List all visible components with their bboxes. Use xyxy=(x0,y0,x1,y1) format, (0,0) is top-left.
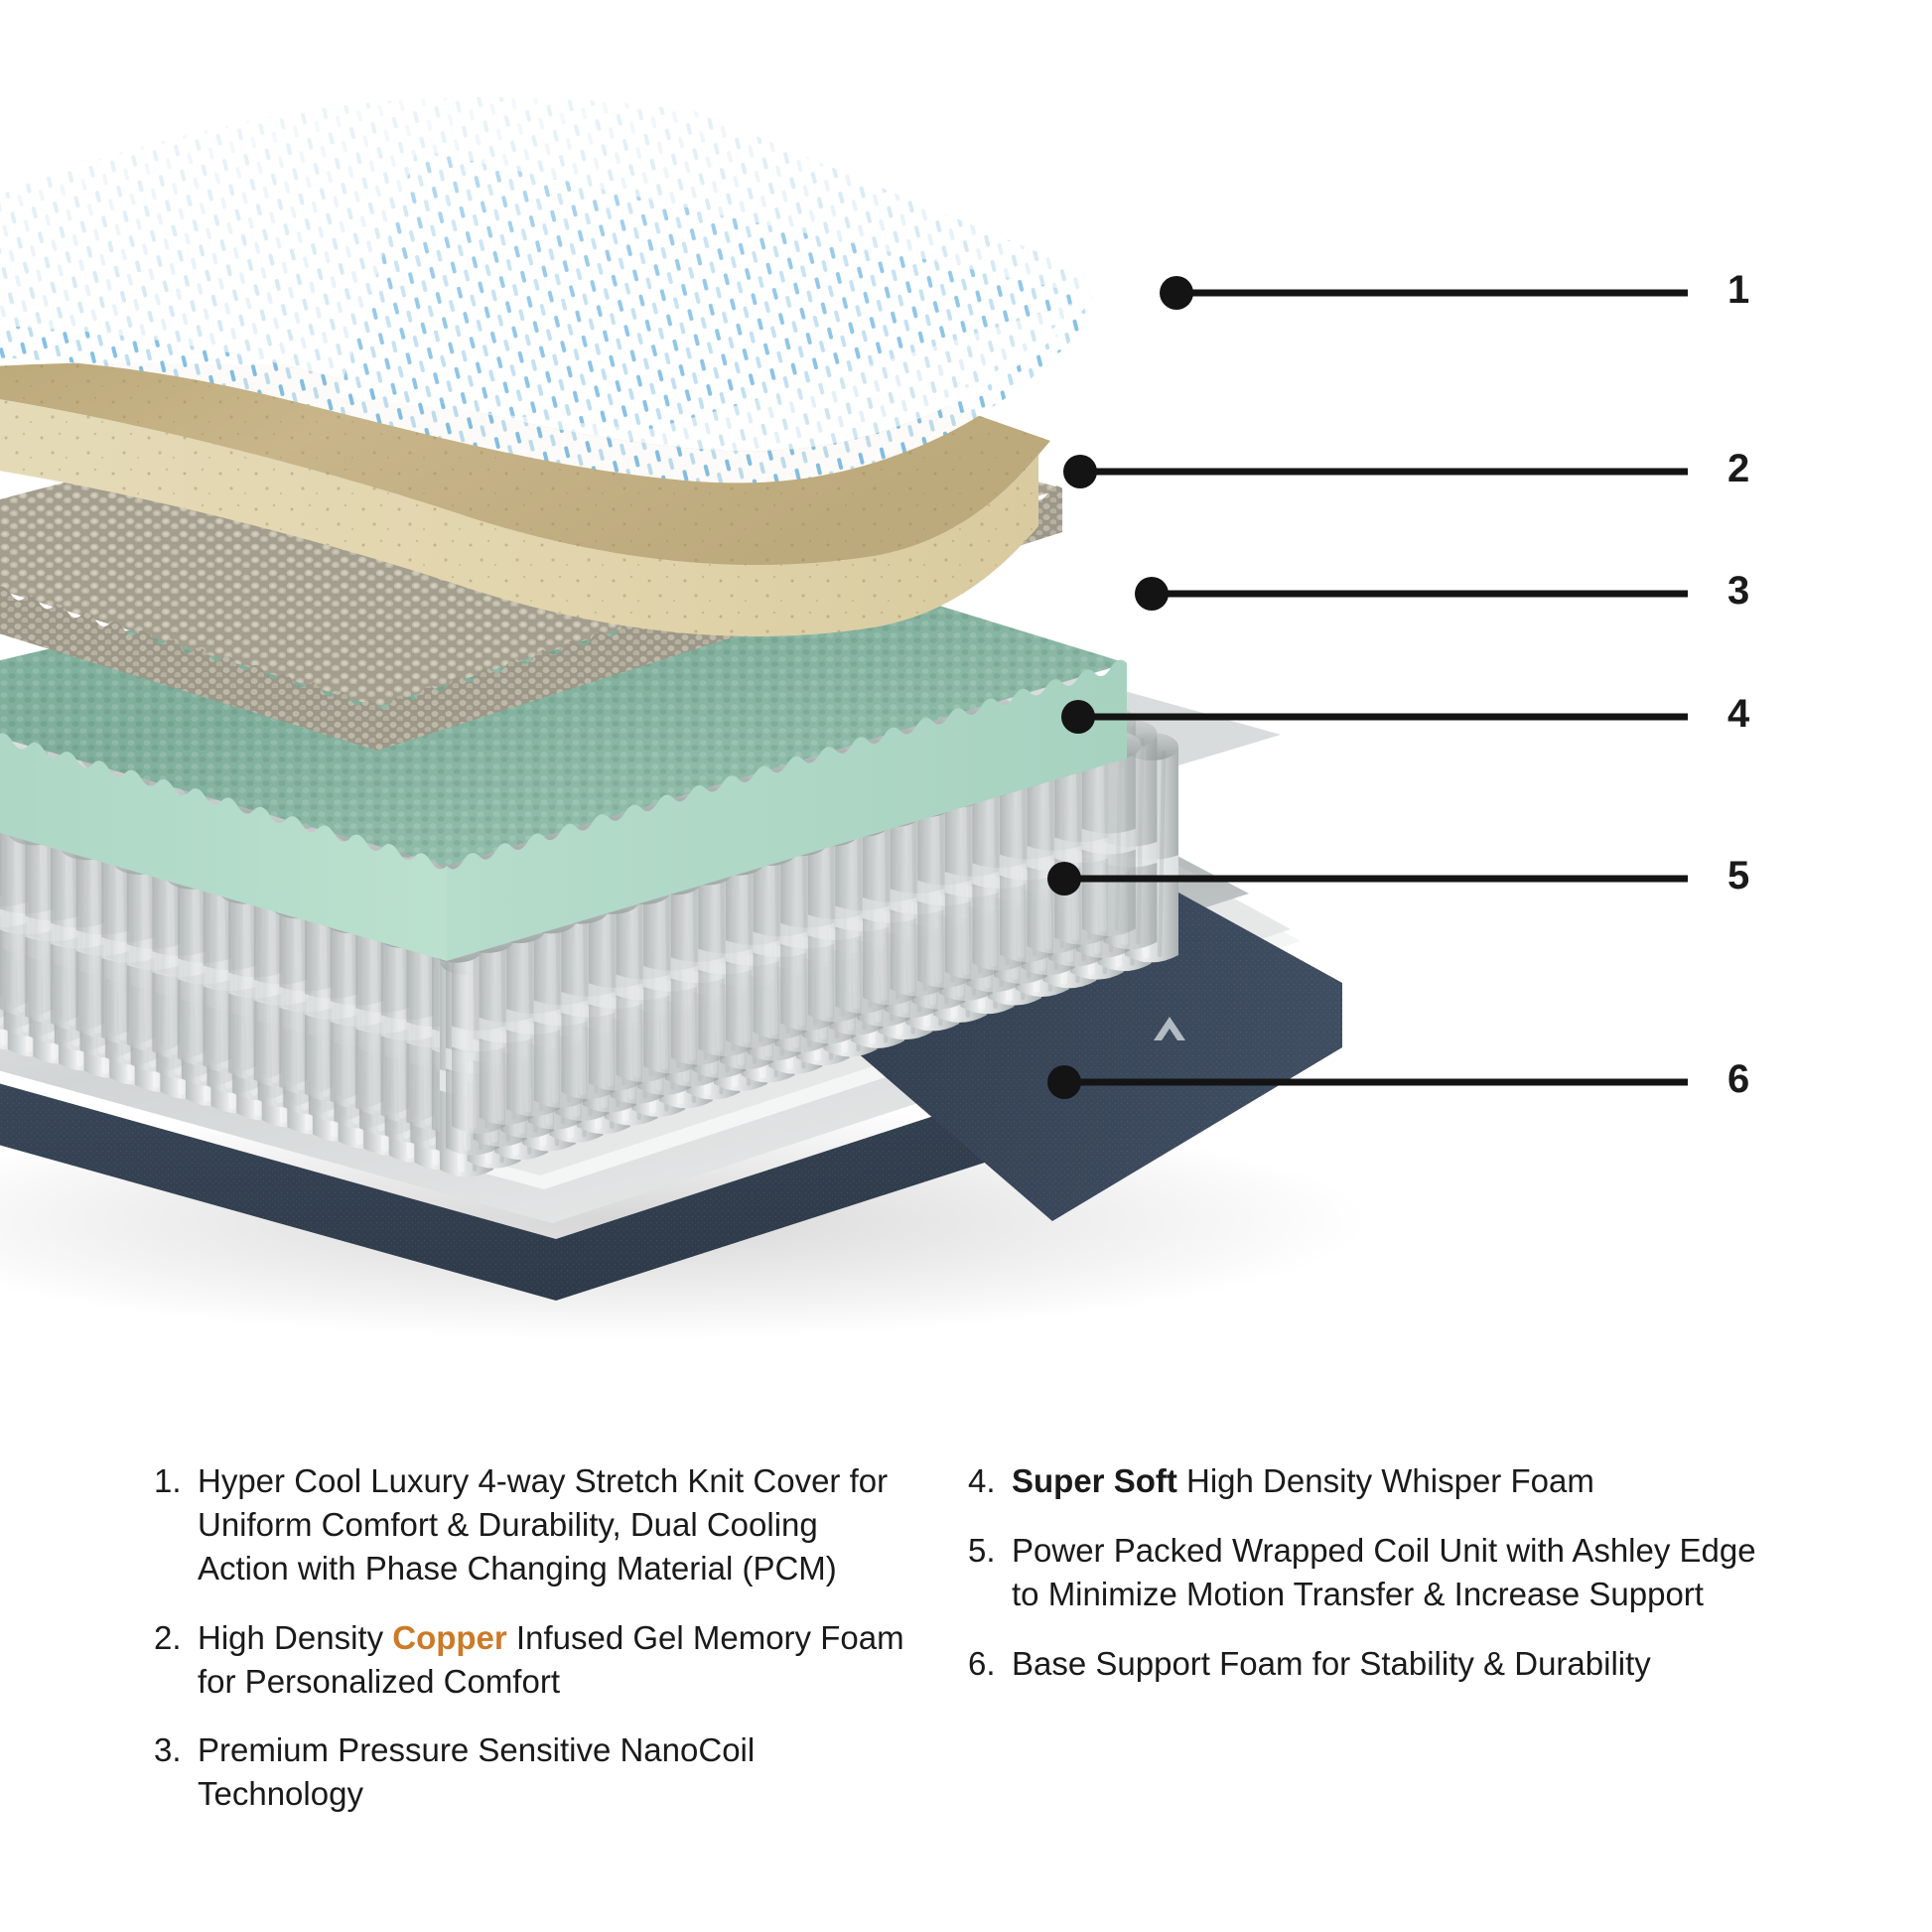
plain-text: Power Packed Wrapped Coil Unit with Ashl… xyxy=(1012,1532,1756,1612)
legend-item-text: Hyper Cool Luxury 4-way Stretch Knit Cov… xyxy=(198,1459,908,1590)
copper-accent-word: Copper xyxy=(392,1619,507,1656)
legend-item-number: 6. xyxy=(968,1642,1012,1686)
plain-text: Base Support Foam for Stability & Durabi… xyxy=(1012,1645,1651,1682)
legend-item: 1.Hyper Cool Luxury 4-way Stretch Knit C… xyxy=(154,1459,908,1590)
legend-item-number: 2. xyxy=(154,1616,198,1660)
emphasis-text: Super Soft xyxy=(1012,1462,1177,1499)
legend-item-number: 5. xyxy=(968,1529,1012,1573)
legend-item: 3.Premium Pressure Sensitive NanoCoil Te… xyxy=(154,1728,908,1816)
legend-column-right: 4.Super Soft High Density Whisper Foam5.… xyxy=(968,1459,1762,1712)
callout-number-3: 3 xyxy=(1727,571,1749,611)
legend-item-text: Premium Pressure Sensitive NanoCoil Tech… xyxy=(198,1728,908,1816)
callout-number-2: 2 xyxy=(1727,449,1749,488)
legend-column-left: 1.Hyper Cool Luxury 4-way Stretch Knit C… xyxy=(154,1459,908,1842)
legend-item: 4.Super Soft High Density Whisper Foam xyxy=(968,1459,1762,1503)
callout-number-1: 1 xyxy=(1727,270,1749,310)
legend-item: 6.Base Support Foam for Stability & Dura… xyxy=(968,1642,1762,1686)
plain-text: High Density xyxy=(198,1619,392,1656)
legend-item-number: 1. xyxy=(154,1459,198,1503)
legend: 1.Hyper Cool Luxury 4-way Stretch Knit C… xyxy=(0,1459,1932,1932)
plain-text: Hyper Cool Luxury 4-way Stretch Knit Cov… xyxy=(198,1462,888,1587)
legend-item-text: Power Packed Wrapped Coil Unit with Ashl… xyxy=(1012,1529,1762,1616)
plain-text: Premium Pressure Sensitive NanoCoil Tech… xyxy=(198,1731,755,1812)
legend-item-text: Super Soft High Density Whisper Foam xyxy=(1012,1459,1762,1503)
plain-text: High Density Whisper Foam xyxy=(1177,1462,1594,1499)
legend-item-number: 3. xyxy=(154,1728,198,1772)
mattress-layers-svg xyxy=(0,0,1932,1390)
leader-line-1 xyxy=(1160,276,1688,310)
legend-item-text: High Density Copper Infused Gel Memory F… xyxy=(198,1616,908,1704)
callout-number-4: 4 xyxy=(1727,694,1749,734)
diagram-page: 1 2 3 4 5 6 1.Hyper Cool Luxury 4-way St… xyxy=(0,0,1932,1932)
callout-number-5: 5 xyxy=(1727,856,1749,896)
leader-line-3 xyxy=(1135,577,1688,611)
mattress-cutaway-illustration: 1 2 3 4 5 6 xyxy=(0,0,1932,1390)
callout-number-6: 6 xyxy=(1727,1059,1749,1099)
legend-item: 2.High Density Copper Infused Gel Memory… xyxy=(154,1616,908,1704)
legend-item: 5.Power Packed Wrapped Coil Unit with As… xyxy=(968,1529,1762,1616)
leader-line-2 xyxy=(1063,455,1688,488)
legend-item-text: Base Support Foam for Stability & Durabi… xyxy=(1012,1642,1762,1686)
legend-item-number: 4. xyxy=(968,1459,1012,1503)
